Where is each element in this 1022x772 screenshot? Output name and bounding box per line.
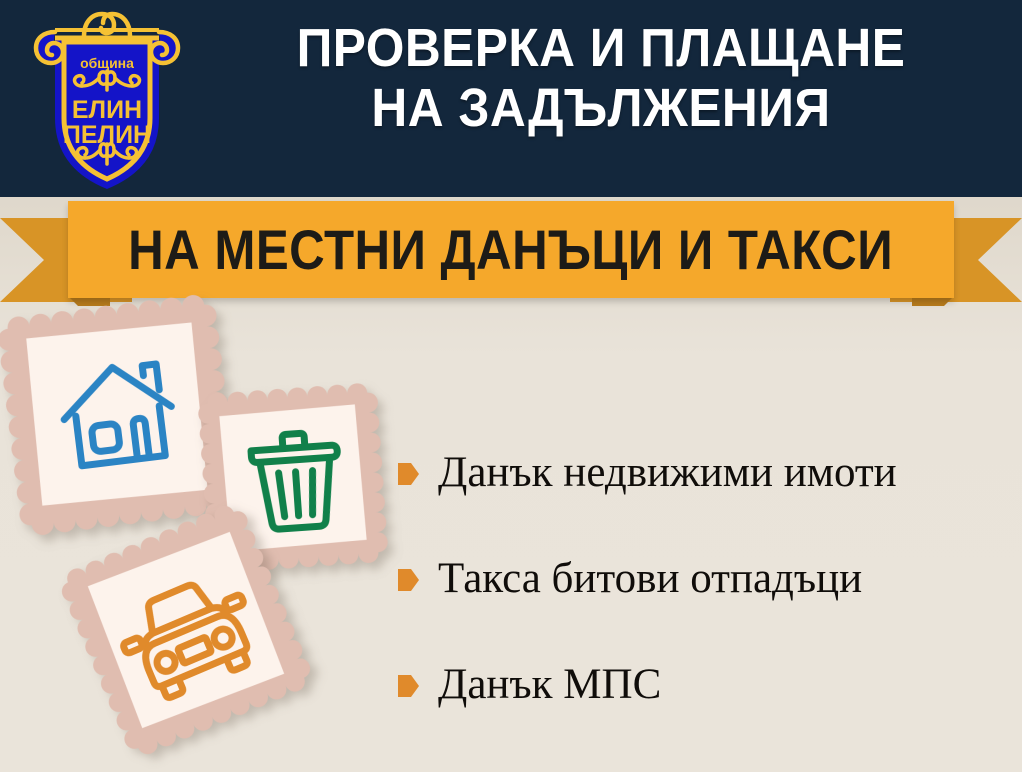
list-item-label: Данък МПС	[438, 661, 661, 709]
crest-caption: община	[80, 55, 134, 71]
ribbon-banner: НА МЕСТНИ ДАНЪЦИ И ТАКСИ	[68, 201, 954, 298]
crest-name-line1: ЕЛИН	[72, 96, 142, 124]
poster-canvas: община ЕЛИН ПЕЛИН	[0, 0, 1022, 772]
bullet-arrow-icon	[398, 567, 420, 593]
coat-of-arms: община ЕЛИН ПЕЛИН	[32, 8, 182, 194]
list-item[interactable]: Данък МПС	[398, 632, 1018, 738]
subtitle-ribbon: НА МЕСТНИ ДАНЪЦИ И ТАКСИ	[0, 196, 1022, 308]
title-line-2: НА ЗАДЪЛЖЕНИЯ	[219, 78, 983, 138]
bullet-arrow-icon	[398, 461, 420, 487]
bullet-arrow-icon	[398, 673, 420, 699]
poster-title: ПРОВЕРКА И ПЛАЩАНЕ НА ЗАДЪЛЖЕНИЯ	[186, 18, 1016, 138]
list-item[interactable]: Такса битови отпадъци	[398, 526, 1018, 632]
list-item-label: Данък недвижими имоти	[438, 449, 897, 497]
list-item-label: Такса битови отпадъци	[438, 555, 862, 603]
title-line-1: ПРОВЕРКА И ПЛАЩАНЕ	[219, 18, 983, 78]
ribbon-label: НА МЕСТНИ ДАНЪЦИ И ТАКСИ	[129, 220, 894, 280]
list-item[interactable]: Данък недвижими имоти	[398, 420, 1018, 526]
tax-type-list: Данък недвижими имоти Такса битови отпад…	[398, 420, 1018, 738]
stamp-collage	[0, 300, 420, 772]
